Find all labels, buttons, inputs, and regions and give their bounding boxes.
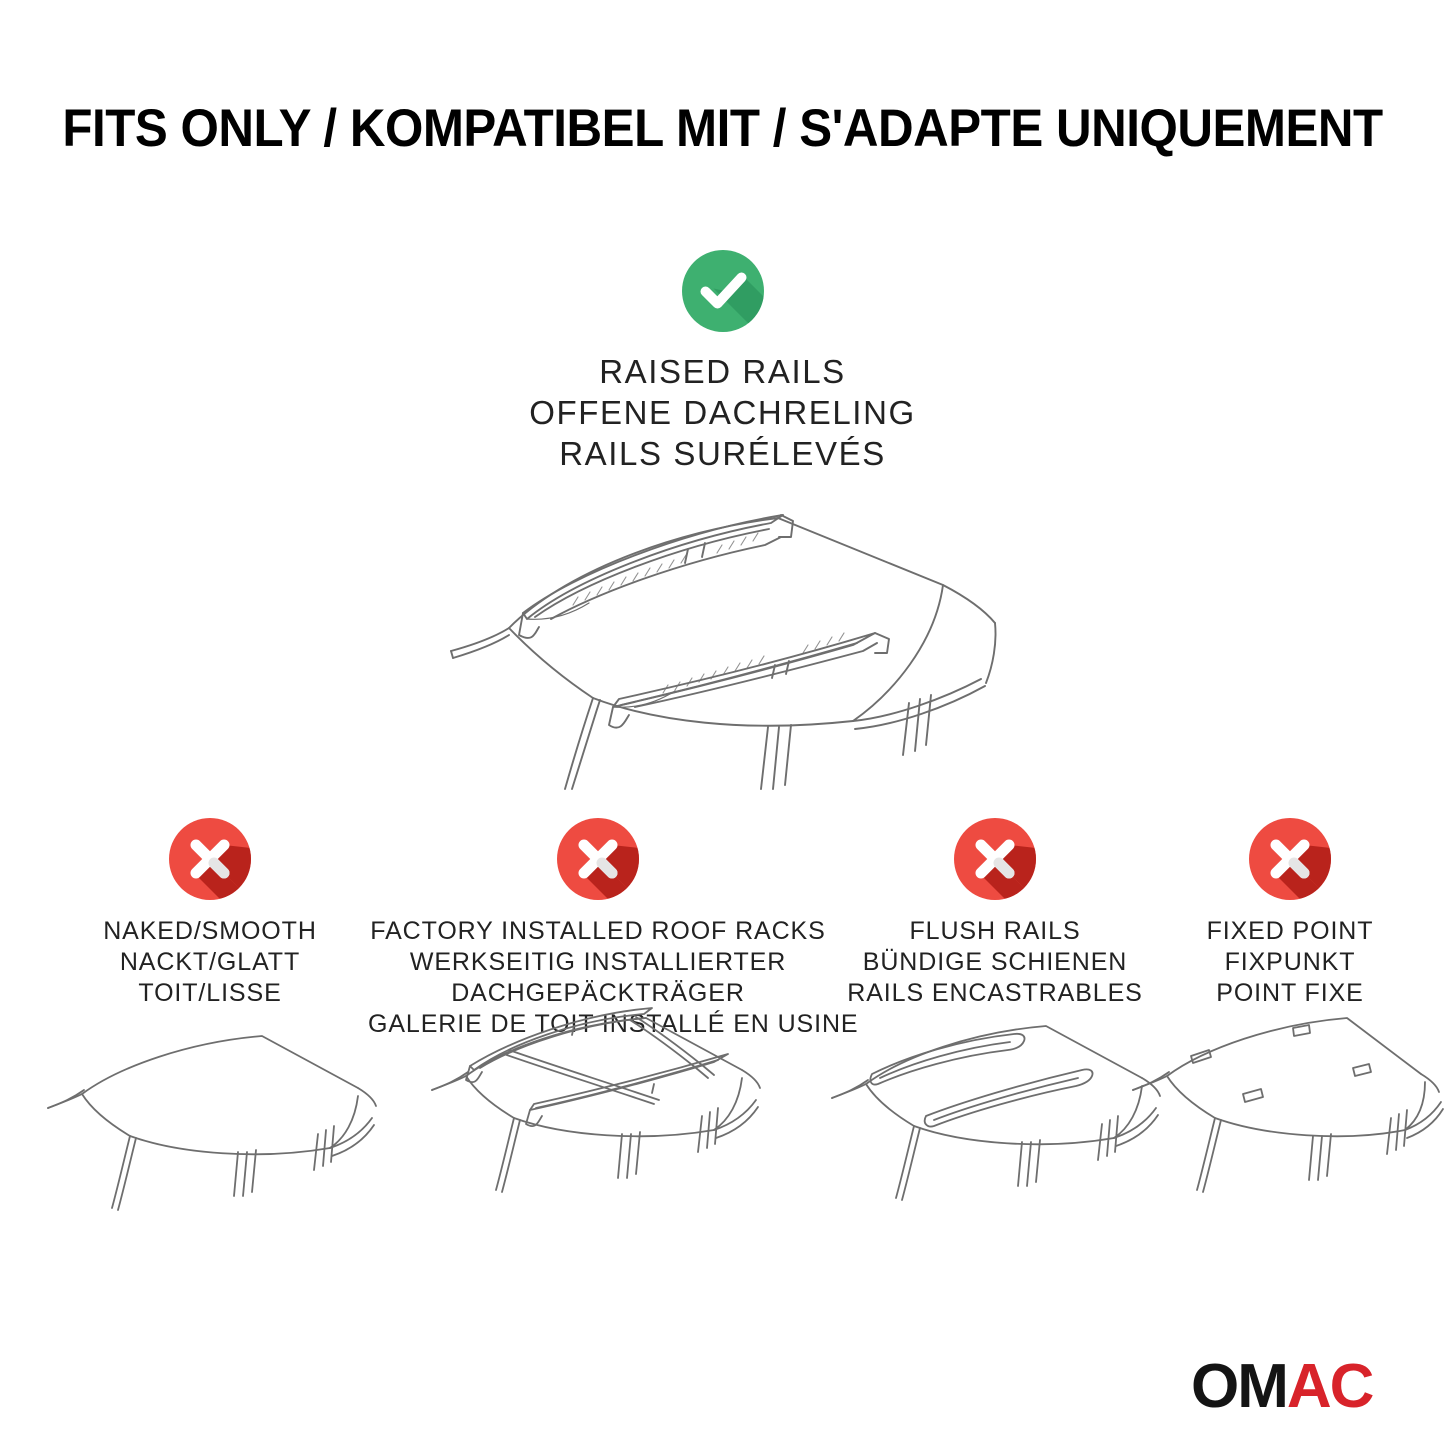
label-en: FLUSH RAILS (820, 916, 1170, 947)
incompatible-item-fixed-point: FIXED POINT FIXPUNKT POINT FIXE (1155, 818, 1425, 1009)
compatible-labels: RAISED RAILS OFFENE DACHRELING RAILS SUR… (0, 351, 1445, 474)
compatible-label-fr: RAILS SURÉLEVÉS (0, 433, 1445, 474)
label-de: NACKT/GLATT (40, 947, 380, 978)
incompatible-item-factory-installed-roof-racks: FACTORY INSTALLED ROOF RACKS WERKSEITIG … (368, 818, 828, 1040)
logo-part-om: OM (1191, 1352, 1287, 1421)
incompatible-labels: FIXED POINT FIXPUNKT POINT FIXE (1155, 916, 1425, 1009)
label-de-1: WERKSEITIG INSTALLIERTER (368, 947, 828, 978)
compatible-section: RAISED RAILS OFFENE DACHRELING RAILS SUR… (0, 250, 1445, 474)
car-roof-raised-rails-illustration (423, 493, 1023, 793)
cross-circle-icon (954, 818, 1036, 900)
compatible-label-en: RAISED RAILS (0, 351, 1445, 392)
cross-circle-icon (557, 818, 639, 900)
label-en: FACTORY INSTALLED ROOF RACKS (368, 916, 828, 947)
check-circle-icon (682, 250, 764, 332)
car-roof-fixed-point-illustration (1125, 1004, 1445, 1229)
car-roof-factory-racks-illustration (408, 1000, 788, 1230)
cross-badge-wrap (1155, 818, 1425, 910)
omac-logo-text: OMAC (1191, 1356, 1423, 1418)
incompatible-item-naked-smooth: NAKED/SMOOTH NACKT/GLATT TOIT/LISSE (40, 818, 380, 1009)
omac-logo: OMAC (1191, 1356, 1423, 1418)
cross-circle-icon (169, 818, 251, 900)
cross-badge-wrap (40, 818, 380, 910)
logo-part-ac: AC (1287, 1352, 1373, 1421)
label-fr: TOIT/LISSE (40, 978, 380, 1009)
page-title: FITS ONLY / KOMPATIBEL MIT / S'ADAPTE UN… (51, 98, 1395, 159)
incompatible-labels: FLUSH RAILS BÜNDIGE SCHIENEN RAILS ENCAS… (820, 916, 1170, 1009)
incompatible-item-flush-rails: FLUSH RAILS BÜNDIGE SCHIENEN RAILS ENCAS… (820, 818, 1170, 1009)
cross-circle-icon (1249, 818, 1331, 900)
cross-badge-wrap (820, 818, 1170, 910)
compatible-label-de: OFFENE DACHRELING (0, 392, 1445, 433)
car-roof-naked-illustration (30, 1010, 390, 1230)
label-en: NAKED/SMOOTH (40, 916, 380, 947)
label-de: BÜNDIGE SCHIENEN (820, 947, 1170, 978)
incompatible-labels: NAKED/SMOOTH NACKT/GLATT TOIT/LISSE (40, 916, 380, 1009)
label-en: FIXED POINT (1155, 916, 1425, 947)
cross-badge-wrap (368, 818, 828, 910)
label-de: FIXPUNKT (1155, 947, 1425, 978)
